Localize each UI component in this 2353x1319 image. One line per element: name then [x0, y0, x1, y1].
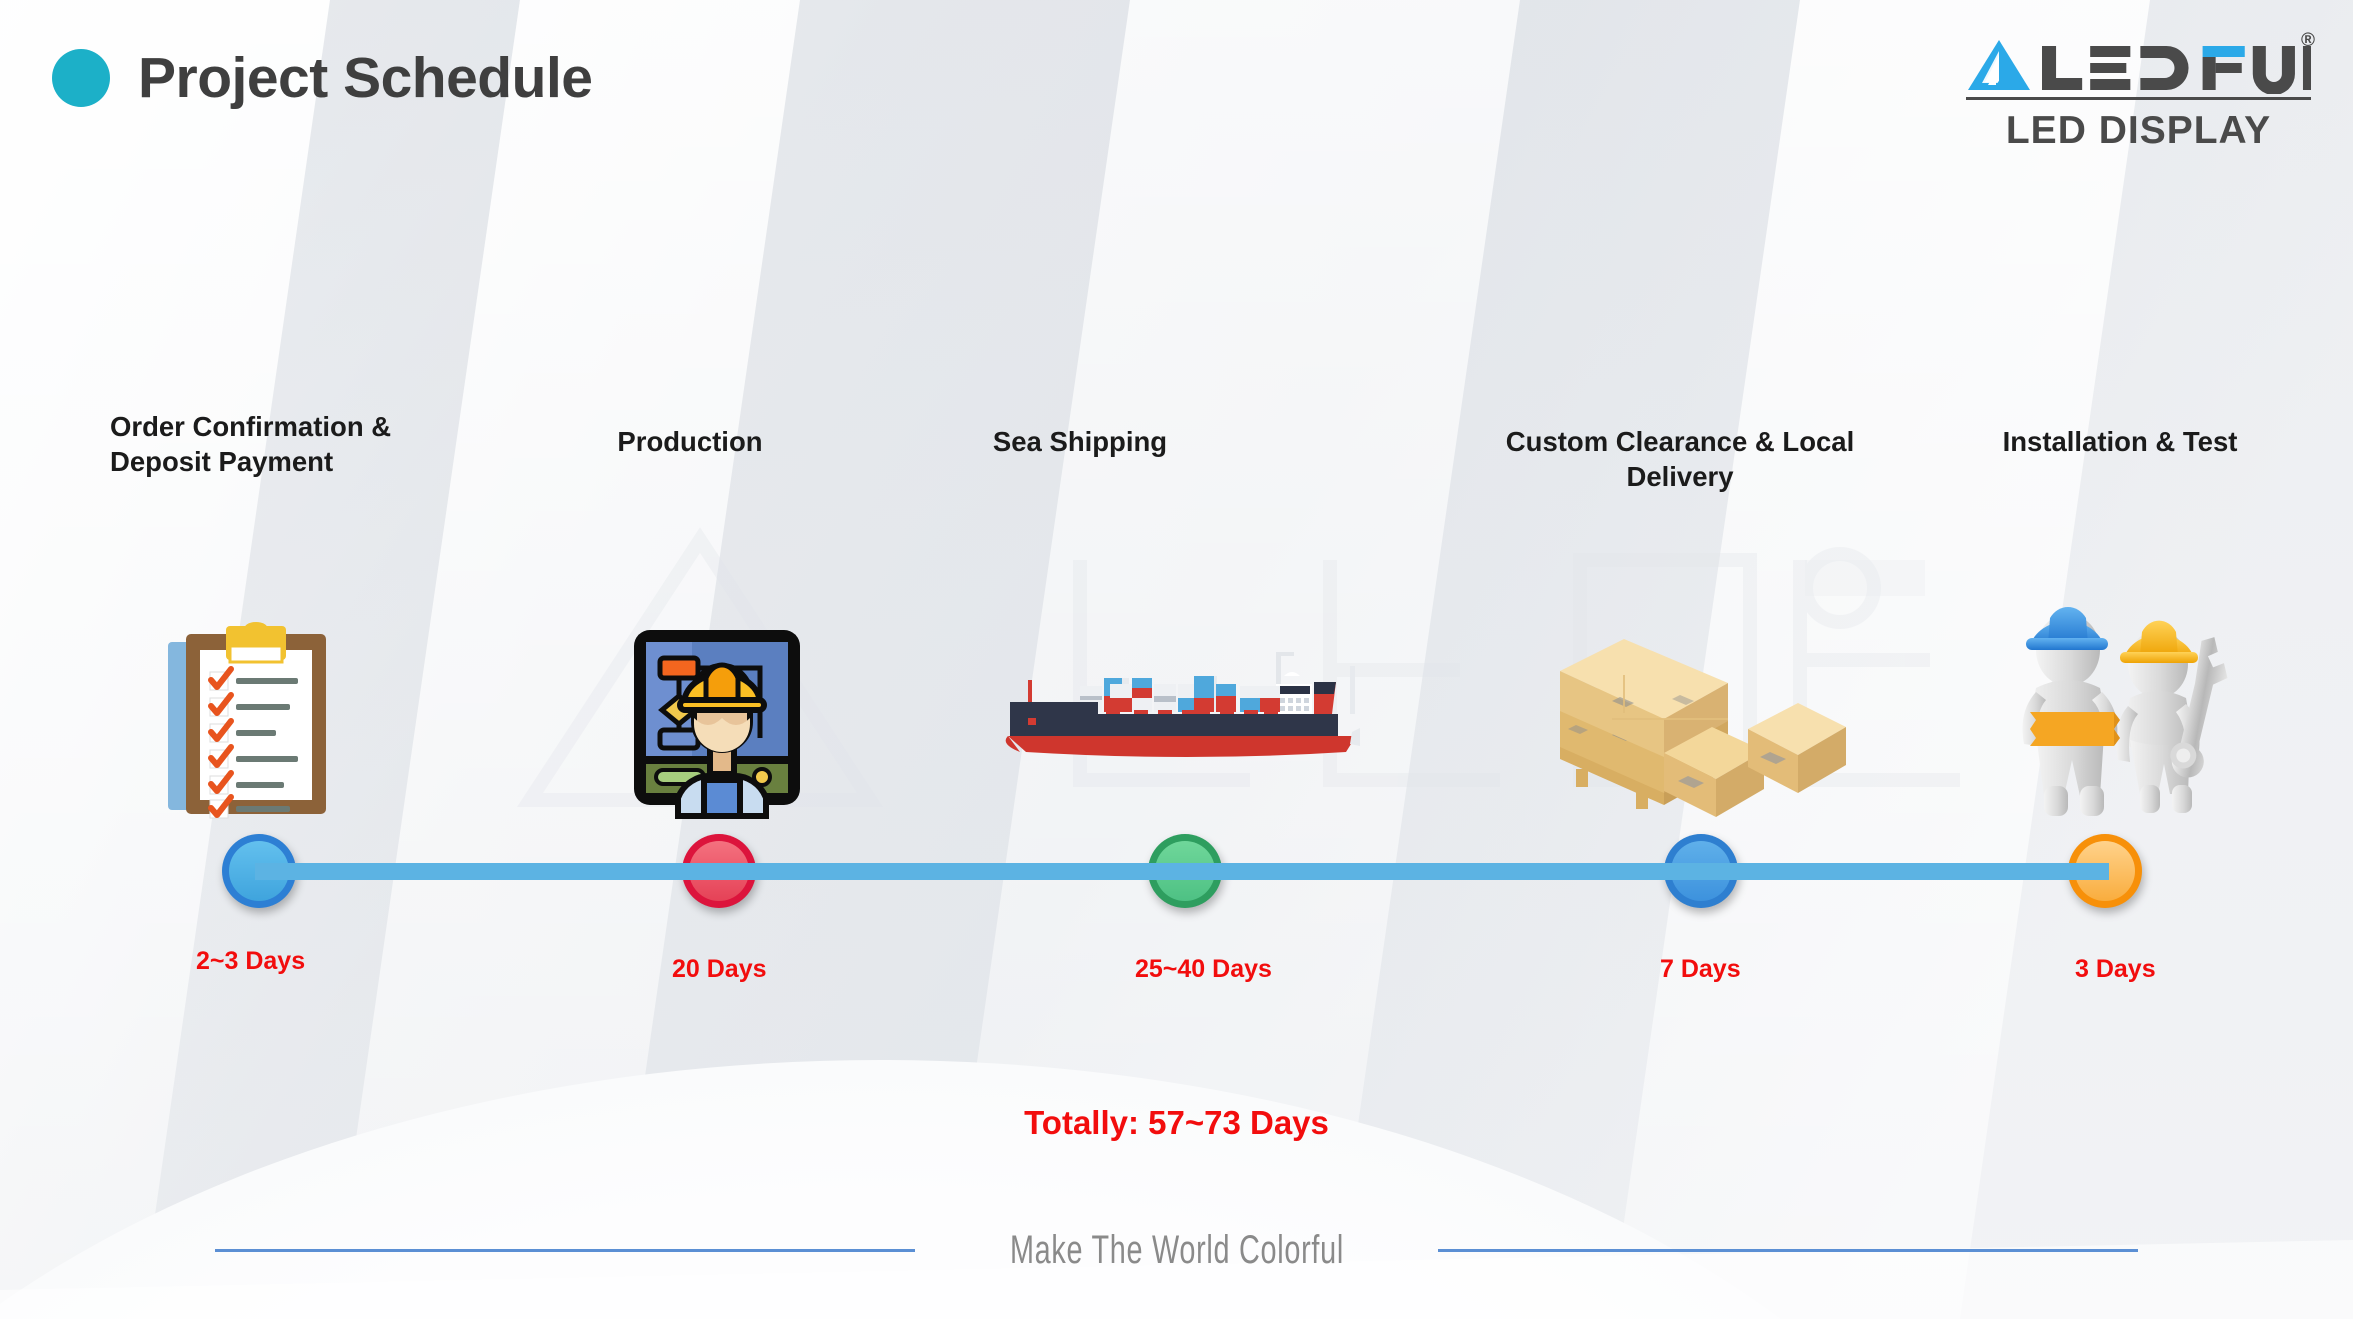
page-title-group: Project Schedule — [52, 45, 593, 111]
step-duration-1: 2~3 Days — [196, 947, 305, 976]
step-label-sea-shipping: Sea Shipping — [905, 425, 1255, 460]
step-label-installation-test: Installation & Test — [1930, 425, 2310, 460]
timeline-rail-segment-2 — [723, 863, 1183, 880]
footer: Make The World Colorful — [0, 1228, 2353, 1273]
clipboard-checklist-icon — [160, 620, 340, 820]
step-duration-4: 7 Days — [1660, 955, 1741, 984]
ledful-wordmark-icon — [2040, 42, 2311, 94]
logo-divider — [1966, 97, 2311, 100]
footer-slogan: Make The World Colorful — [1009, 1228, 1343, 1273]
ledful-triangle-mark-icon — [1966, 38, 2032, 94]
brand-logo: ® LED DISPLAY — [1966, 32, 2311, 153]
registered-trademark-icon: ® — [2301, 30, 2315, 52]
workers-helmet-wrench-icon — [1990, 580, 2240, 840]
step-duration-5: 3 Days — [2075, 955, 2156, 984]
footer-divider-right — [1438, 1249, 2138, 1252]
footer-divider-left — [215, 1249, 915, 1252]
step-duration-3: 25~40 Days — [1135, 955, 1272, 984]
logo-subtitle: LED DISPLAY — [1966, 109, 2311, 153]
step-duration-2: 20 Days — [672, 955, 767, 984]
timeline-rail-segment-1 — [255, 863, 725, 880]
production-monitor-worker-icon — [622, 620, 812, 820]
timeline-rail-segment-4 — [1699, 863, 2109, 880]
timeline-rail-segment-3 — [1181, 863, 1701, 880]
pallet-boxes-icon — [1532, 595, 1852, 825]
container-ship-icon — [988, 640, 1380, 770]
step-label-order-confirmation: Order Confirmation & Deposit Payment — [110, 410, 530, 480]
header: Project Schedule — [0, 0, 2353, 200]
step-label-custom-clearance: Custom Clearance & Local Delivery — [1460, 425, 1900, 495]
title-bullet-icon — [52, 49, 110, 107]
total-duration: Totally: 57~73 Days — [0, 1104, 2353, 1142]
step-label-production: Production — [525, 425, 855, 460]
page-title: Project Schedule — [138, 45, 593, 111]
